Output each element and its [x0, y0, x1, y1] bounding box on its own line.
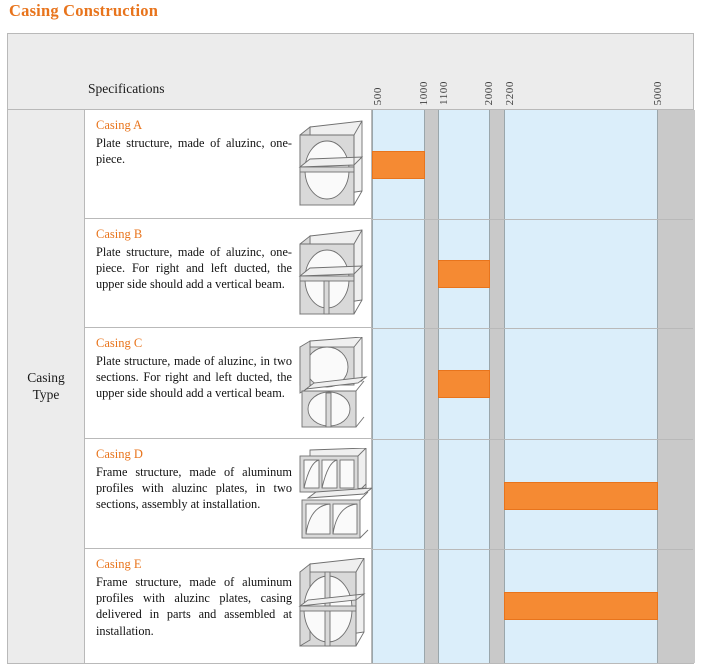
scale-tick-1100: 1100	[439, 81, 450, 105]
casing-description: Plate structure, made of aluzinc, one-pi…	[96, 244, 292, 293]
scale-tick-2000: 2000	[484, 81, 495, 105]
row-divider	[372, 439, 693, 440]
casing-name: Casing D	[96, 447, 292, 463]
casing-type-column: Casing Type	[8, 110, 85, 663]
header-specifications-cell: Specifications	[8, 34, 372, 109]
casing-name: Casing B	[96, 227, 292, 243]
table-row: Casing BPlate structure, made of aluzinc…	[85, 219, 371, 328]
casing-name: Casing E	[96, 557, 292, 573]
row-divider	[372, 219, 693, 220]
casing-description-block: Casing DFrame structure, made of aluminu…	[96, 447, 292, 513]
range-bar-casing-d	[504, 482, 658, 510]
casing-construction-table: Specifications 50010001100200022005000 C…	[7, 33, 694, 664]
header-scale-cell: 50010001100200022005000	[372, 34, 693, 109]
table-header-row: Specifications 50010001100200022005000	[8, 34, 693, 110]
size-band-gray-5	[658, 110, 695, 663]
range-bar-casing-c	[438, 370, 490, 398]
table-row: Casing CPlate structure, made of aluzinc…	[85, 328, 371, 439]
page-title: Casing Construction	[9, 1, 158, 21]
table-body: Casing Type Casing APlate structure, mad…	[8, 110, 693, 663]
table-row: Casing EFrame structure, made of aluminu…	[85, 549, 371, 659]
scale-tick-1000: 1000	[419, 81, 430, 105]
casing-name: Casing A	[96, 118, 292, 134]
size-range-chart	[372, 110, 693, 663]
size-band-gray-1	[425, 110, 438, 663]
casing-description: Plate structure, made of aluzinc, in two…	[96, 353, 292, 402]
size-band-blue-4	[504, 110, 658, 663]
scale-tick-5000: 5000	[653, 81, 664, 105]
casing-e-isometric	[296, 558, 376, 661]
scale-tick-2200: 2200	[505, 81, 516, 105]
casing-description-block: Casing APlate structure, made of aluzinc…	[96, 118, 292, 167]
table-row: Casing DFrame structure, made of aluminu…	[85, 439, 371, 549]
casing-description-block: Casing EFrame structure, made of aluminu…	[96, 557, 292, 639]
casing-d-isometric	[296, 448, 376, 551]
row-divider	[372, 549, 693, 550]
size-band-blue-0	[372, 110, 425, 663]
casing-description: Frame structure, made of aluminum profil…	[96, 574, 292, 639]
casing-c-isometric	[296, 337, 376, 440]
casing-description: Frame structure, made of aluminum profil…	[96, 464, 292, 513]
scale-tick-500: 500	[373, 87, 384, 105]
range-bar-casing-e	[504, 592, 658, 620]
row-divider	[372, 328, 693, 329]
table-row: Casing APlate structure, made of aluzinc…	[85, 110, 371, 219]
casing-name: Casing C	[96, 336, 292, 352]
specifications-label: Specifications	[88, 81, 164, 97]
casing-b-isometric	[296, 228, 376, 331]
casing-description: Plate structure, made of aluzinc, one-pi…	[96, 135, 292, 168]
casing-description-block: Casing BPlate structure, made of aluzinc…	[96, 227, 292, 293]
casing-type-label: Casing Type	[27, 370, 65, 404]
range-bar-casing-a	[372, 151, 425, 179]
description-column: Casing APlate structure, made of aluzinc…	[85, 110, 372, 663]
casing-a-isometric	[296, 119, 376, 222]
range-bar-casing-b	[438, 260, 490, 288]
casing-description-block: Casing CPlate structure, made of aluzinc…	[96, 336, 292, 402]
size-band-gray-3	[490, 110, 504, 663]
